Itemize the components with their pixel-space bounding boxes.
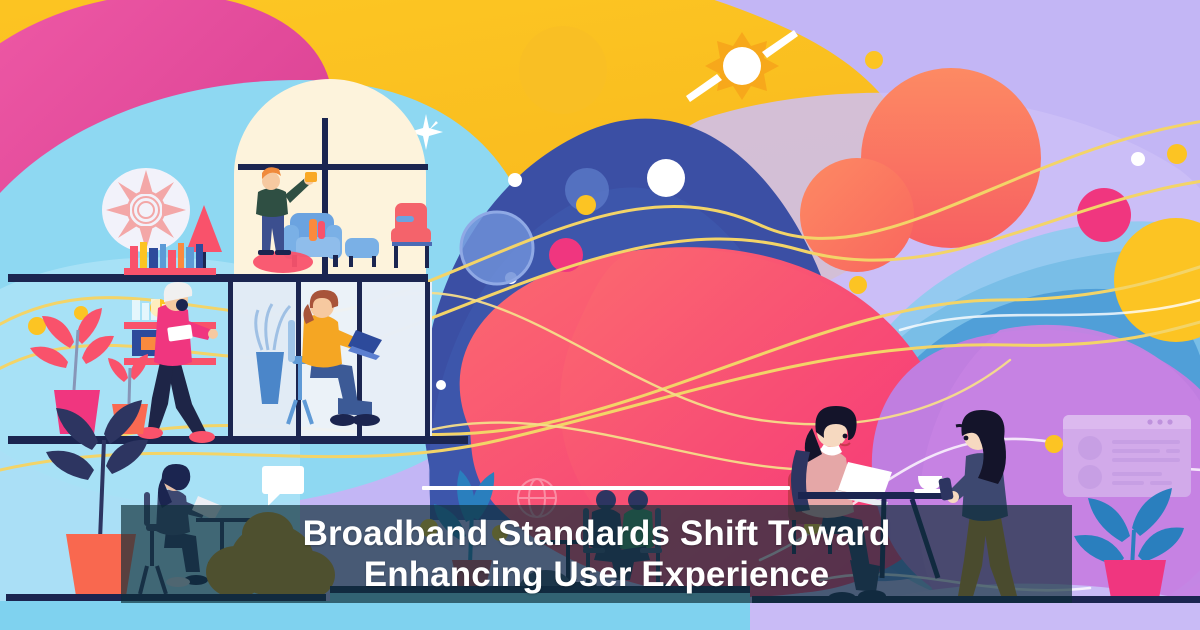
title-divider [422, 486, 790, 490]
chat-bubble-icon [262, 466, 304, 506]
glass-office [228, 282, 432, 440]
page-title: Broadband Standards Shift Toward Enhanci… [293, 513, 901, 595]
title-overlay-band: Broadband Standards Shift Toward Enhanci… [121, 505, 1072, 603]
mandala-sun-decoration [102, 168, 190, 252]
illustration-banner: Broadband Standards Shift Toward Enhanci… [0, 0, 1200, 630]
browser-card-mockup [1063, 415, 1191, 497]
arched-window-room [234, 79, 432, 276]
blue-plant-right [1074, 488, 1184, 604]
floor-line-upper [8, 274, 428, 282]
